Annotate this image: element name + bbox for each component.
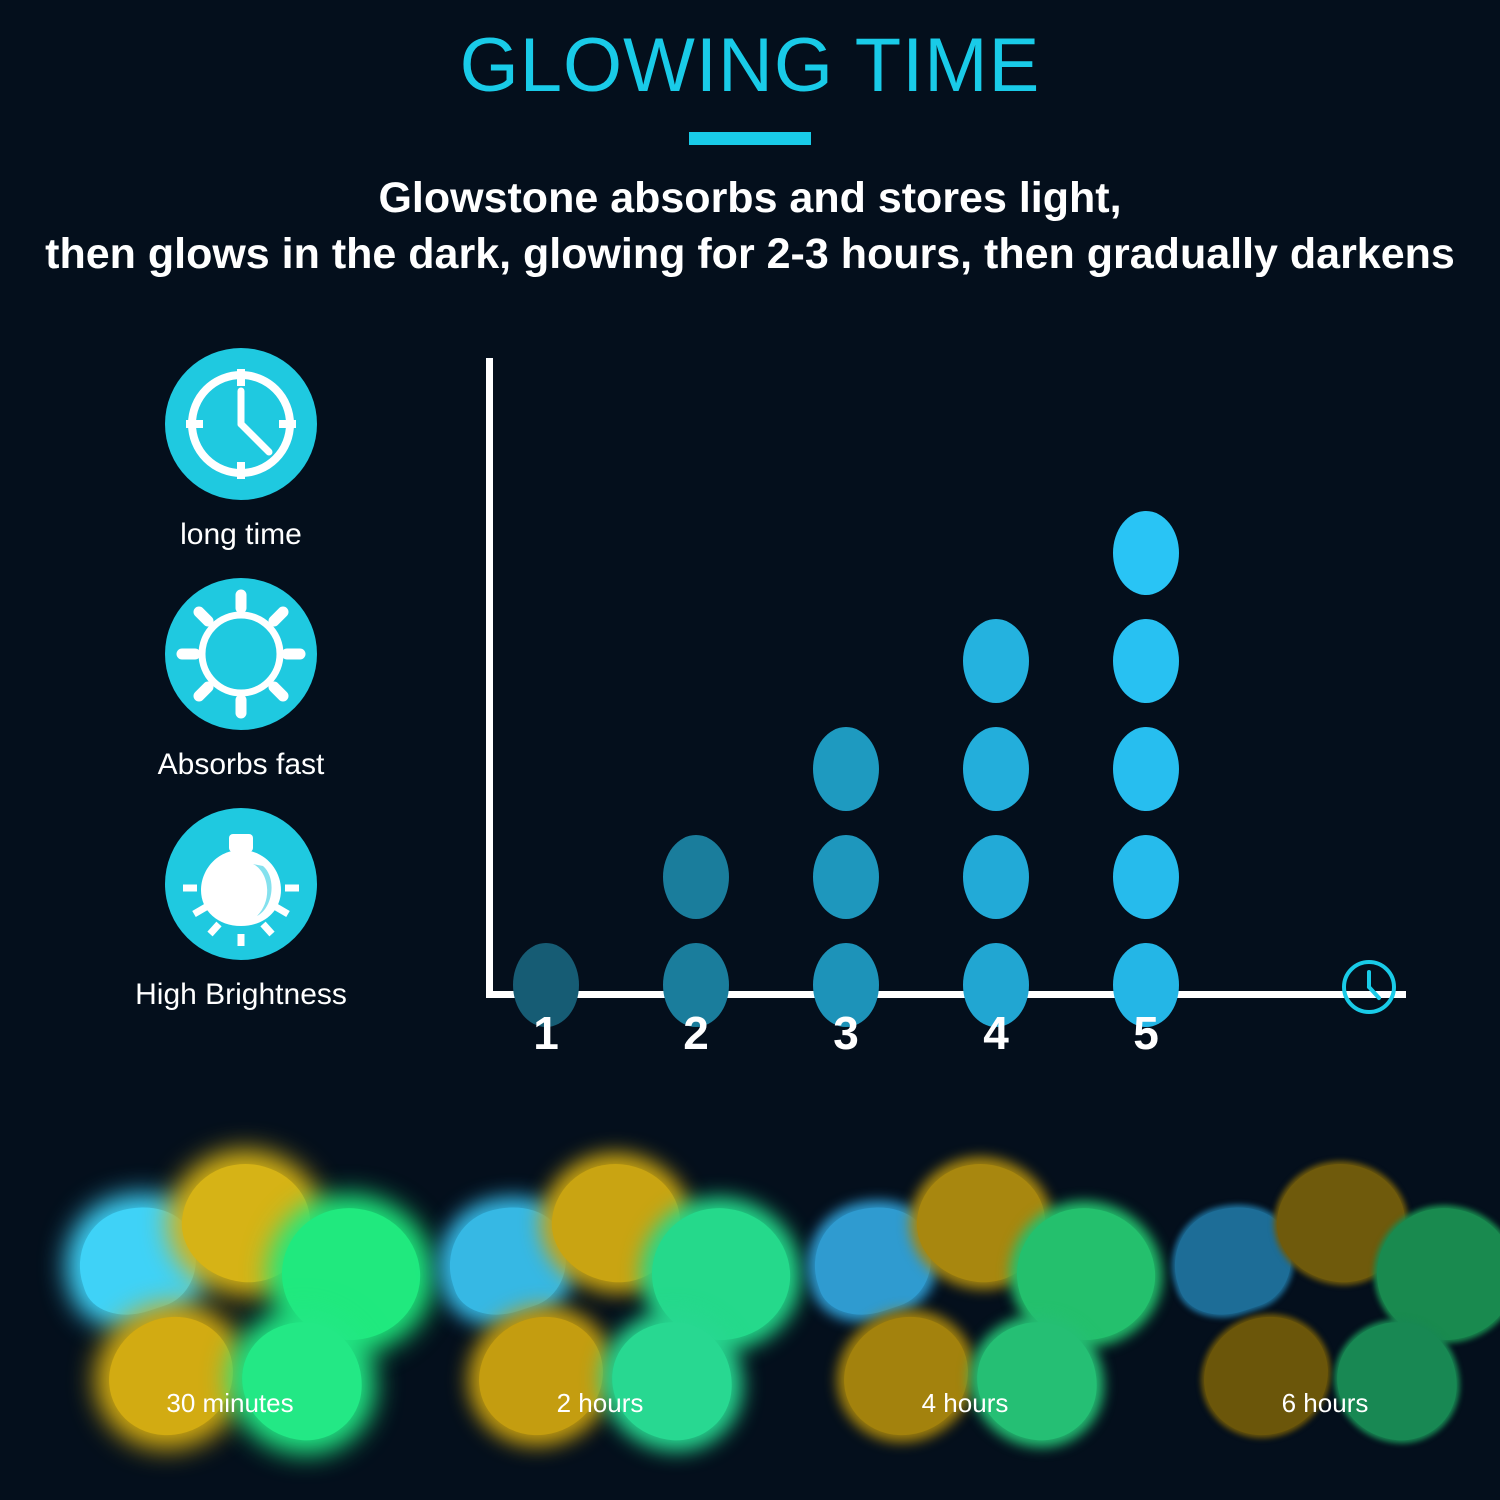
chart-dot [813, 727, 879, 811]
stone-group: 6 hours [1155, 1150, 1495, 1450]
stone-group: 30 minutes [60, 1150, 400, 1450]
stone-group-label: 30 minutes [60, 1388, 400, 1419]
x-axis-tick-label: 2 [661, 1006, 731, 1060]
chart-dot [663, 835, 729, 919]
chart-dot [963, 619, 1029, 703]
stone-group-label: 2 hours [430, 1388, 770, 1419]
stone-photo [1155, 1150, 1495, 1380]
chart-dot [1113, 727, 1179, 811]
gold-stone-bottom [823, 1295, 989, 1457]
stone-group: 4 hours [795, 1150, 1135, 1450]
stone-group-label: 6 hours [1155, 1388, 1495, 1419]
chart-dot [1113, 619, 1179, 703]
feature-label: Absorbs fast [96, 748, 386, 782]
page-subtitle: Glowstone absorbs and stores light, then… [0, 171, 1500, 283]
stone-photo [60, 1150, 400, 1380]
stone-group-label: 4 hours [795, 1388, 1135, 1419]
chart-dot [813, 835, 879, 919]
chart-plot-area [486, 358, 1406, 998]
clock-icon [165, 348, 317, 500]
subtitle-line-2: then glows in the dark, glowing for 2-3 … [0, 227, 1500, 283]
chart-dot [1113, 511, 1179, 595]
gold-stone-bottom [458, 1295, 624, 1457]
header-block: GLOWING TIME Glowstone absorbs and store… [0, 0, 1500, 283]
subtitle-line-1: Glowstone absorbs and stores light, [0, 171, 1500, 227]
glow-intensity-chart: 12345 [486, 358, 1406, 998]
stone-group: 2 hours [430, 1150, 770, 1450]
feature-list: long time Absorbs fast [96, 348, 386, 1038]
x-axis-tick-label: 4 [961, 1006, 1031, 1060]
x-axis-tick-label: 3 [811, 1006, 881, 1060]
feature-label: long time [96, 518, 386, 552]
chart-dot [963, 727, 1029, 811]
stone-photo [795, 1150, 1135, 1380]
sun-icon [165, 578, 317, 730]
chart-dot [1113, 835, 1179, 919]
feature-high-brightness: High Brightness [96, 808, 386, 1012]
feature-label: High Brightness [96, 978, 386, 1012]
x-axis-tick-label: 1 [511, 1006, 581, 1060]
chart-dot [963, 835, 1029, 919]
x-axis-tick-label: 5 [1111, 1006, 1181, 1060]
feature-absorbs-fast: Absorbs fast [96, 578, 386, 782]
lightbulb-icon [165, 808, 317, 960]
title-underline-rule [689, 132, 811, 145]
gold-stone-bottom [88, 1295, 254, 1457]
stone-photo [430, 1150, 770, 1380]
page-title: GLOWING TIME [0, 0, 1500, 104]
feature-long-time: long time [96, 348, 386, 552]
gold-stone-bottom [1183, 1295, 1349, 1457]
clock-icon [1340, 958, 1398, 1016]
